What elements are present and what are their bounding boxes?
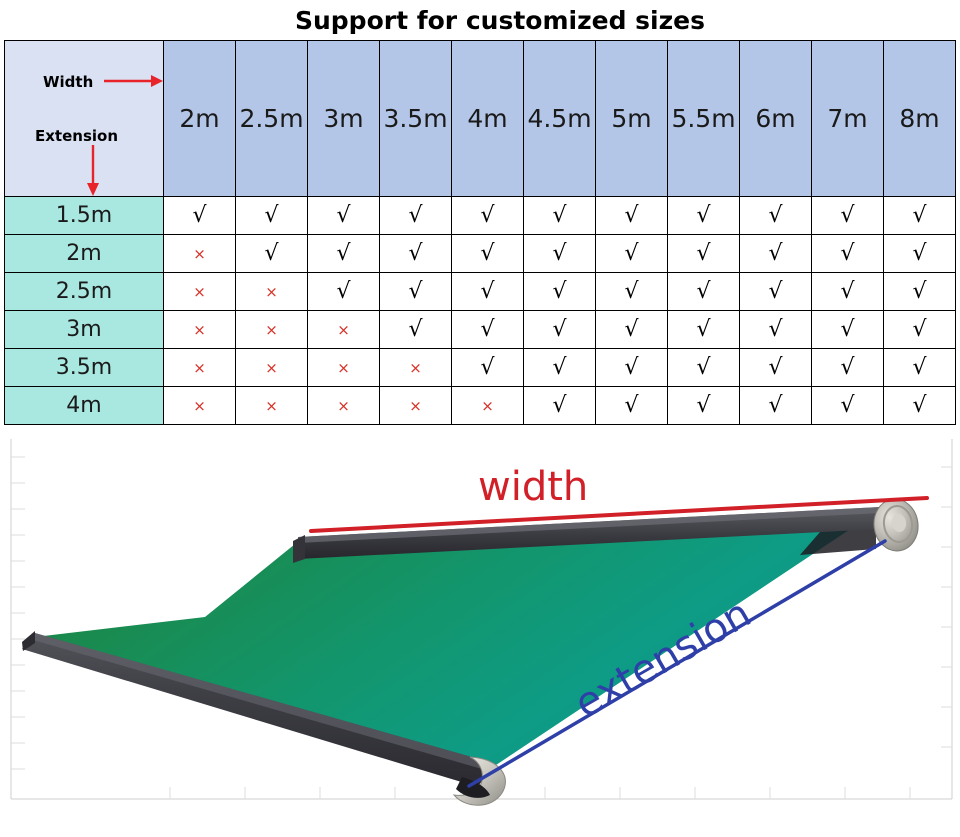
check-icon: √: [624, 355, 638, 380]
check-icon: √: [552, 393, 566, 418]
check-icon: √: [840, 355, 854, 380]
support-cell: √: [884, 235, 956, 273]
support-cell: √: [740, 349, 812, 387]
column-header: 4m: [452, 41, 524, 197]
support-cell: √: [524, 349, 596, 387]
support-cell: √: [380, 311, 452, 349]
page-title-bar: Support for customized sizes: [0, 0, 960, 40]
support-cell: ×: [164, 311, 236, 349]
check-icon: √: [624, 203, 638, 228]
column-header: 8m: [884, 41, 956, 197]
check-icon: √: [696, 203, 710, 228]
check-icon: √: [480, 279, 494, 304]
support-cell: ×: [236, 349, 308, 387]
row-header: 3m: [5, 311, 164, 349]
table-row: 2.5m××√√√√√√√√√: [5, 273, 956, 311]
check-icon: √: [840, 393, 854, 418]
support-cell: ×: [164, 387, 236, 425]
support-cell: ×: [308, 387, 380, 425]
cross-icon: ×: [193, 321, 206, 339]
support-cell: √: [740, 197, 812, 235]
support-cell: √: [452, 311, 524, 349]
cross-icon: ×: [265, 283, 278, 301]
cross-icon: ×: [193, 245, 206, 263]
support-cell: √: [452, 349, 524, 387]
check-icon: √: [408, 203, 422, 228]
support-cell: √: [740, 273, 812, 311]
support-cell: √: [380, 273, 452, 311]
support-cell: √: [308, 197, 380, 235]
row-header: 3.5m: [5, 349, 164, 387]
support-cell: √: [596, 197, 668, 235]
check-icon: √: [336, 241, 350, 266]
check-icon: √: [912, 393, 926, 418]
check-icon: √: [336, 203, 350, 228]
check-icon: √: [912, 279, 926, 304]
support-cell: √: [884, 311, 956, 349]
support-cell: √: [740, 235, 812, 273]
support-cell: √: [596, 235, 668, 273]
table-corner-cell: Width Extension: [5, 41, 164, 197]
check-icon: √: [912, 203, 926, 228]
support-cell: √: [812, 197, 884, 235]
awning-illustration: width extension: [0, 437, 960, 837]
support-cell: √: [524, 387, 596, 425]
support-cell: √: [812, 273, 884, 311]
cross-icon: ×: [193, 283, 206, 301]
check-icon: √: [696, 393, 710, 418]
check-icon: √: [696, 355, 710, 380]
check-icon: √: [840, 317, 854, 342]
check-icon: √: [408, 317, 422, 342]
table-row: 1.5m√√√√√√√√√√√: [5, 197, 956, 235]
check-icon: √: [264, 241, 278, 266]
column-header: 2m: [164, 41, 236, 197]
arrow-down-icon: [87, 145, 99, 196]
table-row: 2m×√√√√√√√√√√: [5, 235, 956, 273]
check-icon: √: [696, 241, 710, 266]
check-icon: √: [624, 279, 638, 304]
support-cell: √: [452, 273, 524, 311]
table-row: 3m×××√√√√√√√√: [5, 311, 956, 349]
support-cell: √: [236, 197, 308, 235]
support-cell: √: [524, 273, 596, 311]
cross-icon: ×: [337, 359, 350, 377]
corner-arrows: [5, 41, 163, 196]
page-title: Support for customized sizes: [255, 6, 705, 35]
check-icon: √: [696, 317, 710, 342]
support-cell: √: [524, 311, 596, 349]
table-header-row: Width Extension 2m 2.5m: [5, 41, 956, 197]
size-support-table: Width Extension 2m 2.5m: [4, 40, 956, 425]
table-body: 1.5m√√√√√√√√√√√2m×√√√√√√√√√√2.5m××√√√√√√…: [5, 197, 956, 425]
check-icon: √: [768, 241, 782, 266]
table-head: Width Extension 2m 2.5m: [5, 41, 956, 197]
table-row: 4m×××××√√√√√√: [5, 387, 956, 425]
support-cell: √: [452, 197, 524, 235]
cross-icon: ×: [337, 397, 350, 415]
support-cell: √: [380, 235, 452, 273]
table-row: 3.5m××××√√√√√√√: [5, 349, 956, 387]
check-icon: √: [480, 203, 494, 228]
check-icon: √: [840, 241, 854, 266]
support-cell: √: [668, 235, 740, 273]
check-icon: √: [192, 203, 206, 228]
awning-diagram-panel: width extension: [0, 437, 960, 837]
support-cell: ×: [164, 349, 236, 387]
check-icon: √: [408, 241, 422, 266]
cross-icon: ×: [409, 397, 422, 415]
check-icon: √: [768, 317, 782, 342]
width-label: width: [478, 464, 588, 510]
support-cell: √: [308, 273, 380, 311]
check-icon: √: [552, 279, 566, 304]
cross-icon: ×: [265, 397, 278, 415]
check-icon: √: [624, 393, 638, 418]
check-icon: √: [912, 355, 926, 380]
check-icon: √: [480, 317, 494, 342]
support-cell: √: [884, 349, 956, 387]
check-icon: √: [264, 203, 278, 228]
column-header: 6m: [740, 41, 812, 197]
check-icon: √: [552, 355, 566, 380]
check-icon: √: [768, 203, 782, 228]
cross-icon: ×: [409, 359, 422, 377]
support-cell: √: [164, 197, 236, 235]
support-cell: √: [236, 235, 308, 273]
support-cell: √: [524, 197, 596, 235]
column-header: 5m: [596, 41, 668, 197]
support-cell: √: [884, 273, 956, 311]
row-header: 2m: [5, 235, 164, 273]
column-header: 7m: [812, 41, 884, 197]
check-icon: √: [552, 203, 566, 228]
column-header: 2.5m: [236, 41, 308, 197]
support-cell: √: [380, 197, 452, 235]
row-header: 4m: [5, 387, 164, 425]
check-icon: √: [552, 241, 566, 266]
support-cell: √: [596, 311, 668, 349]
arrow-right-icon: [104, 75, 163, 87]
row-header: 1.5m: [5, 197, 164, 235]
check-icon: √: [480, 241, 494, 266]
cross-icon: ×: [337, 321, 350, 339]
support-cell: √: [668, 311, 740, 349]
check-icon: √: [696, 279, 710, 304]
support-cell: √: [596, 349, 668, 387]
support-cell: √: [524, 235, 596, 273]
cross-icon: ×: [265, 359, 278, 377]
support-cell: ×: [452, 387, 524, 425]
check-icon: √: [480, 355, 494, 380]
cross-icon: ×: [481, 397, 494, 415]
check-icon: √: [768, 393, 782, 418]
support-cell: √: [812, 311, 884, 349]
support-cell: ×: [380, 387, 452, 425]
support-cell: √: [740, 311, 812, 349]
cross-icon: ×: [193, 359, 206, 377]
support-cell: √: [884, 387, 956, 425]
column-header: 4.5m: [524, 41, 596, 197]
check-icon: √: [768, 355, 782, 380]
row-header: 2.5m: [5, 273, 164, 311]
support-cell: ×: [164, 273, 236, 311]
corner-cell-inner: Width Extension: [5, 41, 163, 196]
support-cell: √: [812, 387, 884, 425]
support-cell: √: [740, 387, 812, 425]
support-cell: √: [668, 349, 740, 387]
column-header: 3.5m: [380, 41, 452, 197]
check-icon: √: [552, 317, 566, 342]
check-icon: √: [624, 241, 638, 266]
support-cell: √: [596, 273, 668, 311]
check-icon: √: [840, 203, 854, 228]
check-icon: √: [912, 317, 926, 342]
support-cell: ×: [236, 387, 308, 425]
support-cell: ×: [308, 311, 380, 349]
support-cell: √: [812, 235, 884, 273]
check-icon: √: [336, 279, 350, 304]
cross-icon: ×: [265, 321, 278, 339]
support-cell: √: [452, 235, 524, 273]
check-icon: √: [768, 279, 782, 304]
support-cell: √: [812, 349, 884, 387]
check-icon: √: [840, 279, 854, 304]
support-cell: ×: [308, 349, 380, 387]
support-cell: √: [884, 197, 956, 235]
check-icon: √: [408, 279, 422, 304]
support-cell: ×: [380, 349, 452, 387]
support-cell: ×: [164, 235, 236, 273]
support-cell: ×: [236, 311, 308, 349]
support-cell: √: [668, 197, 740, 235]
support-cell: √: [596, 387, 668, 425]
column-header: 5.5m: [668, 41, 740, 197]
check-icon: √: [624, 317, 638, 342]
support-cell: ×: [236, 273, 308, 311]
cross-icon: ×: [193, 397, 206, 415]
column-header: 3m: [308, 41, 380, 197]
support-cell: √: [308, 235, 380, 273]
support-cell: √: [668, 387, 740, 425]
check-icon: √: [912, 241, 926, 266]
support-cell: √: [668, 273, 740, 311]
